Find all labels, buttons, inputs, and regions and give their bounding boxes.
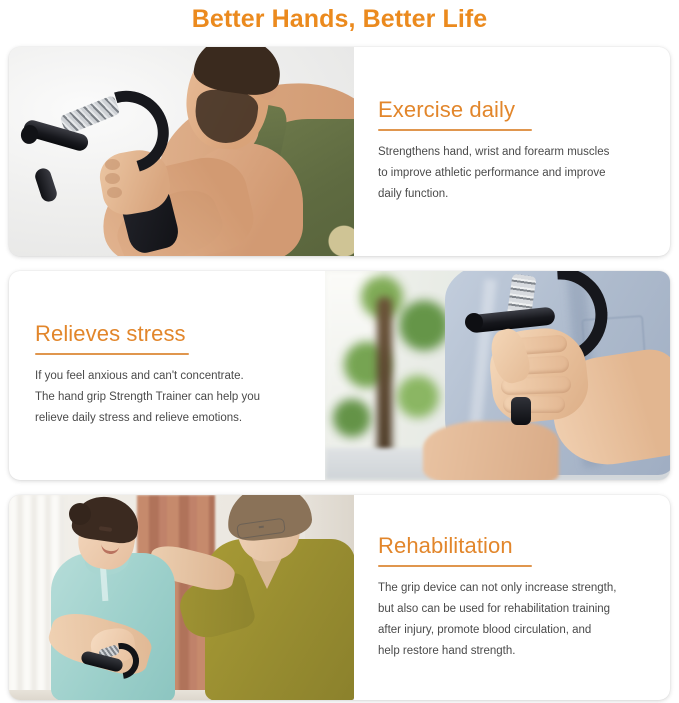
gripper-end-knob <box>465 313 483 331</box>
feature-card-exercise-daily: Exercise daily Strengthens hand, wrist a… <box>9 47 670 256</box>
feature-card-relieves-stress: Relieves stress If you feel anxious and … <box>9 271 670 480</box>
body-line: after injury, promote blood circulation,… <box>378 620 626 641</box>
hand-squeezing-gripper-photo <box>325 271 670 480</box>
hand-gripper-device <box>81 643 125 671</box>
body-line: Strengthens hand, wrist and forearm musc… <box>378 142 626 163</box>
card-body: Strengthens hand, wrist and forearm musc… <box>378 142 626 205</box>
card-heading: Rehabilitation <box>378 534 650 558</box>
card-text-pane: Rehabilitation The grip device can not o… <box>354 495 670 700</box>
heading-rule <box>35 353 189 355</box>
heading-rule <box>378 565 532 567</box>
plant-stem <box>377 297 392 457</box>
heading-rule <box>378 129 532 131</box>
body-line: If you feel anxious and can't concentrat… <box>35 366 283 387</box>
page-title: Better Hands, Better Life <box>0 0 679 32</box>
card-body: The grip device can not only increase st… <box>378 578 626 662</box>
knuckle <box>105 173 120 184</box>
knuckle <box>107 187 122 198</box>
body-line: but also can be used for rehabilitation … <box>378 599 626 620</box>
card-text-pane: Exercise daily Strengthens hand, wrist a… <box>354 47 670 256</box>
body-line: daily function. <box>378 184 626 205</box>
body-line: The hand grip Strength Trainer can help … <box>35 387 283 408</box>
body-line: help restore hand strength. <box>378 641 626 662</box>
body-line: to improve athletic performance and impr… <box>378 163 626 184</box>
resting-hand <box>423 421 559 480</box>
body-line: relieve daily stress and relieve emotion… <box>35 408 283 429</box>
gripper-handle-lower <box>511 397 531 425</box>
therapist-hair-bun <box>69 503 91 525</box>
man-using-hand-gripper-photo <box>9 47 354 256</box>
card-body: If you feel anxious and can't concentrat… <box>35 366 283 429</box>
therapist-assisting-patient-photo <box>9 495 354 700</box>
card-heading: Exercise daily <box>378 98 650 122</box>
card-heading: Relieves stress <box>35 322 301 346</box>
feature-card-rehabilitation: Rehabilitation The grip device can not o… <box>9 495 670 700</box>
card-text-pane: Relieves stress If you feel anxious and … <box>9 271 325 480</box>
feature-card-list: Exercise daily Strengthens hand, wrist a… <box>0 47 679 700</box>
body-line: The grip device can not only increase st… <box>378 578 626 599</box>
